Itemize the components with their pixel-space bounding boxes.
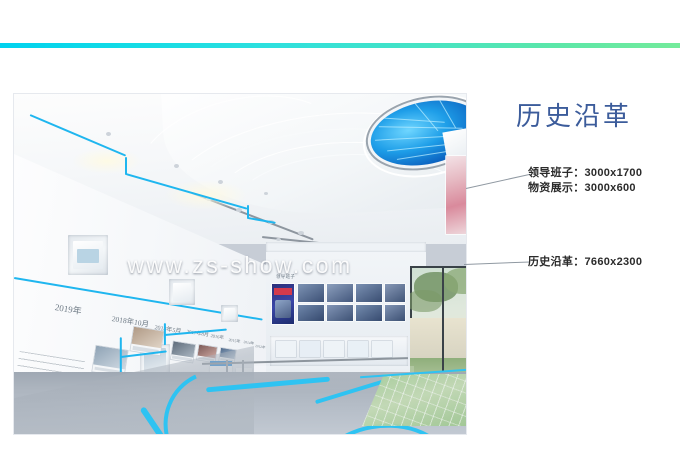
callout-leadership-specs: 领导班子：3000x1700 物资展示：3000x600 [528, 166, 642, 196]
callout-line-leadership: 领导班子：3000x1700 [528, 166, 642, 181]
gradient-divider [0, 43, 680, 48]
wall-niche-3 [221, 305, 238, 322]
cabinet-card-4 [348, 341, 368, 357]
exhibition-hall-photo: 2019年 2018年10月 2018年5月 2017年8月 2016年 201… [14, 94, 466, 434]
back-wall-tile-2 [327, 284, 353, 302]
page-title: 历史沿革 [516, 96, 632, 133]
callout-history-specs: 历史沿革：7660x2300 [528, 255, 642, 270]
cabinet-card-3 [324, 341, 344, 357]
hanging-banner [446, 156, 466, 234]
cabinet-card-1 [276, 341, 296, 357]
back-wall-tile-6 [327, 305, 353, 321]
back-wall-header-strip [266, 242, 426, 252]
ceiling-downlight-4 [264, 192, 268, 195]
track-spot-5 [276, 238, 281, 241]
wall-niche-2 [169, 279, 195, 305]
leader-line-bottom [464, 261, 530, 265]
callout-line-history: 历史沿革：7660x2300 [528, 255, 642, 270]
ceiling-downlight-3 [218, 180, 223, 184]
track-spot-2 [236, 208, 242, 212]
back-wall-tile-1 [298, 284, 324, 302]
ceiling-downlight-2 [174, 164, 179, 168]
back-wall-poster [272, 284, 294, 324]
back-wall-tile-5 [298, 305, 324, 321]
back-wall-tile-4 [385, 284, 405, 302]
ceiling-downlight-1 [106, 132, 111, 136]
back-wall-tile-8 [385, 305, 405, 321]
back-wall-tile-7 [356, 305, 382, 321]
cabinet-card-2 [300, 341, 320, 357]
back-wall-tile-3 [356, 284, 382, 302]
cabinet-card-5 [372, 341, 392, 357]
leader-line-top [466, 174, 531, 189]
watermark-text: www.zs-show.com [14, 252, 466, 279]
track-spot-4 [298, 231, 304, 235]
ceiling-spot-glow-1 [72, 148, 142, 174]
wall-photo-card-4 [171, 341, 196, 362]
callout-line-materials: 物资展示：3000x600 [528, 181, 642, 196]
